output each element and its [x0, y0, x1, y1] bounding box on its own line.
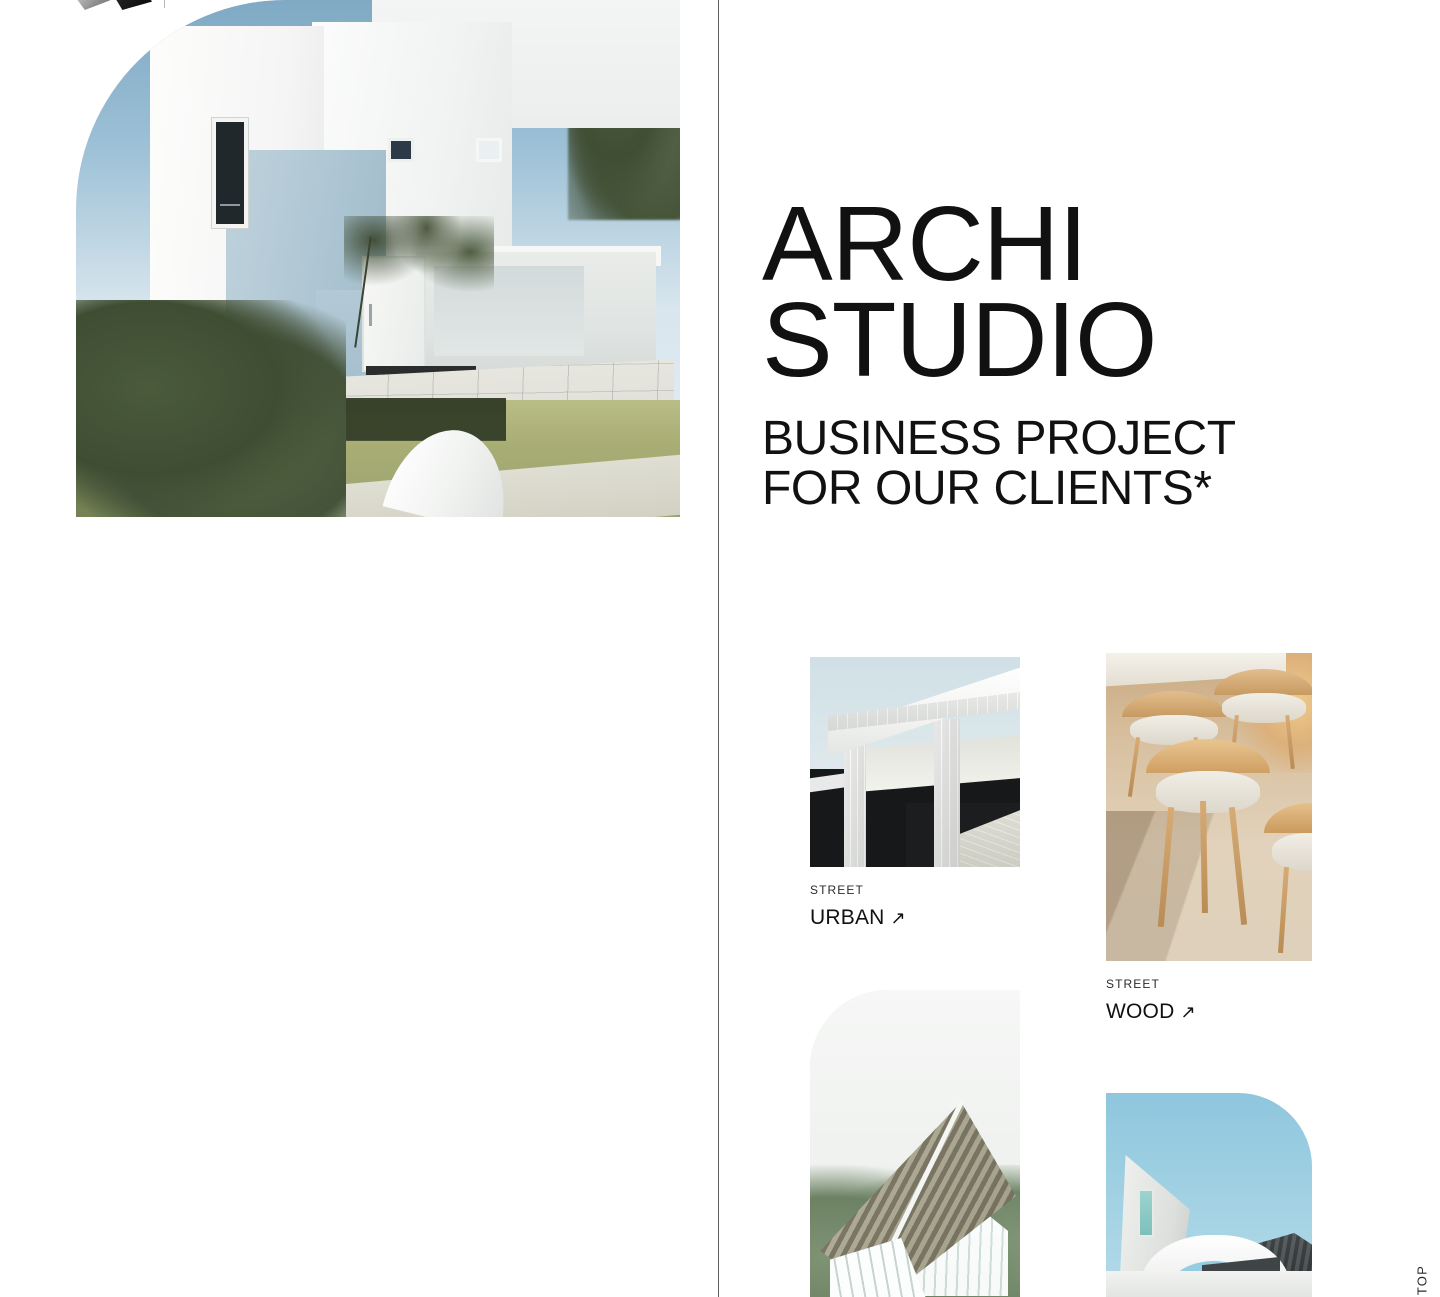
page-subtitle-line-1: BUSINESS PROJECT: [762, 414, 1362, 464]
project-meta-urban: STREET URBAN ↗: [810, 867, 1020, 930]
arrow-up-right-icon: ↗: [1180, 1003, 1195, 1021]
logo-wordmark-icon[interactable]: [76, 0, 196, 10]
wood-chair-right: [1264, 803, 1312, 953]
hero-shrubs-icon: [76, 300, 346, 517]
page-subtitle: BUSINESS PROJECT FOR OUR CLIENTS*: [762, 414, 1362, 514]
vertical-divider: [718, 0, 719, 1297]
project-card-wood[interactable]: STREET WOOD ↗: [1106, 653, 1312, 1024]
project-card-grid: STREET URBAN ↗: [810, 657, 1330, 1297]
project-kicker: STREET: [810, 883, 1020, 897]
chair-leg: [1229, 807, 1247, 925]
arrow-up-right-icon: ↗: [891, 909, 906, 927]
page-title-group: ARCHI STUDIO BUSINESS PROJECT FOR OUR CL…: [762, 196, 1362, 514]
chair-seat: [1272, 833, 1312, 871]
chair-backrest: [1122, 691, 1226, 717]
hero-small-window-2: [476, 138, 502, 162]
curve-base-wall: [1106, 1271, 1312, 1297]
project-card-curve[interactable]: [1106, 1093, 1312, 1297]
hero-small-window-1: [388, 138, 414, 162]
chair-backrest: [1214, 669, 1312, 695]
page-root: ARCHI STUDIO BUSINESS PROJECT FOR OUR CL…: [0, 0, 1440, 1297]
logo-divider-bar: [164, 0, 165, 8]
project-thumbnail-wood[interactable]: [1106, 653, 1312, 961]
project-link-wood[interactable]: WOOD ↗: [1106, 1000, 1312, 1024]
urban-column-right: [934, 719, 960, 867]
chair-leg: [1158, 807, 1174, 927]
hero-tall-window: [212, 118, 248, 228]
project-kicker: STREET: [1106, 977, 1312, 991]
project-thumbnail-aframe[interactable]: [810, 990, 1020, 1297]
wood-chair-front: [1146, 739, 1270, 929]
page-title: ARCHI STUDIO: [762, 196, 1362, 388]
project-card-aframe[interactable]: [810, 990, 1020, 1297]
page-title-line-1: ARCHI: [762, 196, 1362, 292]
project-meta-wood: STREET WOOD ↗: [1106, 961, 1312, 1024]
curve-wedge-window: [1138, 1189, 1154, 1237]
chair-backrest: [1146, 739, 1270, 773]
page-subtitle-line-2: FOR OUR CLIENTS*: [762, 464, 1362, 514]
page-title-line-2: STUDIO: [762, 292, 1362, 388]
logo-glyph-right-icon: [114, 0, 152, 10]
project-card-urban[interactable]: STREET URBAN ↗: [810, 657, 1020, 930]
back-to-top-button[interactable]: O TOP: [1408, 1157, 1436, 1297]
logo-glyph-left-icon: [76, 0, 110, 10]
hero-image[interactable]: [76, 0, 680, 517]
chair-backrest: [1264, 803, 1312, 833]
project-link-urban[interactable]: URBAN ↗: [810, 906, 1020, 930]
chair-leg: [1278, 867, 1289, 953]
project-thumbnail-curve[interactable]: [1106, 1093, 1312, 1297]
back-to-top-label: O TOP: [1415, 1265, 1430, 1297]
project-name: URBAN: [810, 906, 885, 930]
chair-leg: [1200, 801, 1208, 913]
hero-vine-icon: [344, 216, 494, 336]
project-name: WOOD: [1106, 1000, 1174, 1024]
project-thumbnail-urban[interactable]: [810, 657, 1020, 867]
